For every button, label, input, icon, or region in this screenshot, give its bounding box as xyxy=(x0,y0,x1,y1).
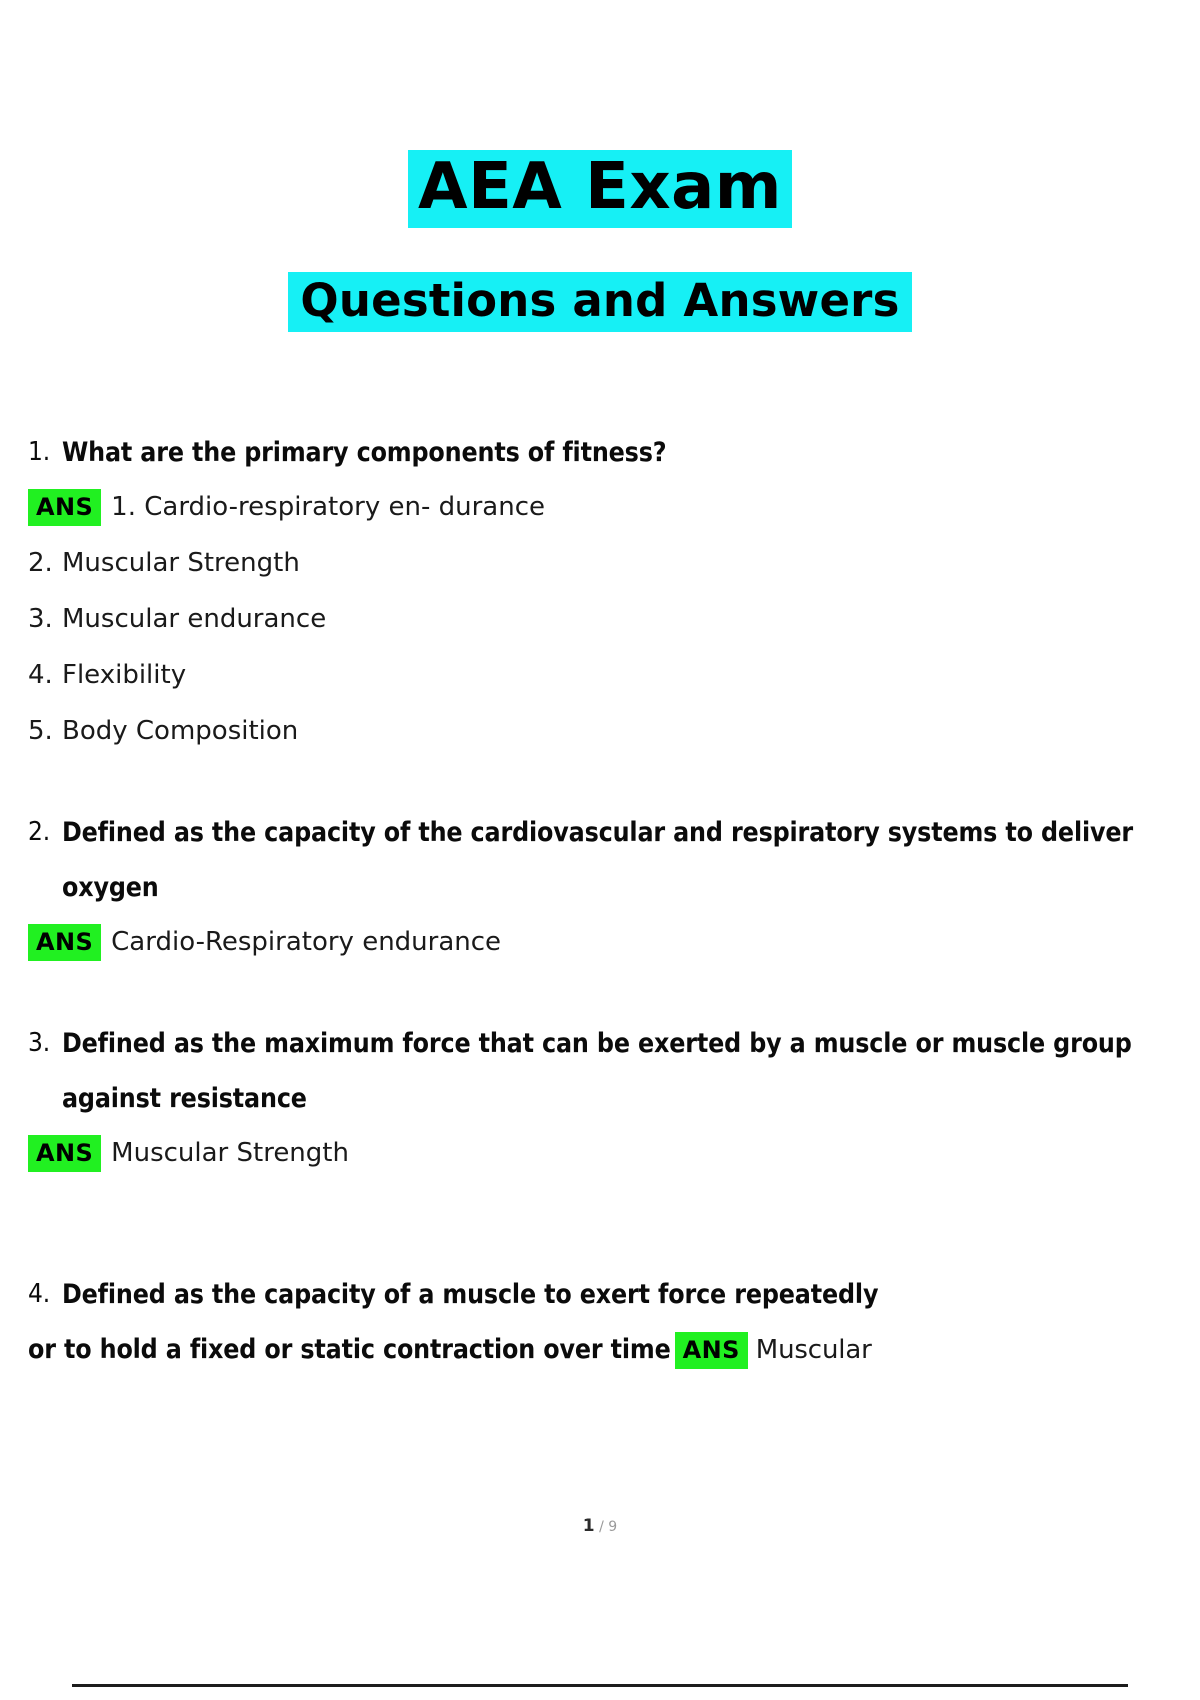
footer-separator: / xyxy=(595,1519,609,1535)
answer-text: Muscular xyxy=(756,1335,872,1365)
list-item: 4. Flexibility xyxy=(28,647,1148,703)
question-list: 1. What are the primary components of fi… xyxy=(28,425,1148,1378)
answer-row: ANS Cardio-Respiratory endurance xyxy=(28,915,1148,970)
question-block-4: 4. Defined as the capacity of a muscle t… xyxy=(28,1267,1148,1378)
question-text: Defined as the capacity of the cardiovas… xyxy=(62,805,1148,915)
list-item-number: 2. xyxy=(28,535,62,591)
question-block-1: 1. What are the primary components of fi… xyxy=(28,425,1148,759)
list-item-label: Body Composition xyxy=(62,703,1148,759)
question-number: 4. xyxy=(28,1267,62,1322)
question-row: 4. Defined as the capacity of a muscle t… xyxy=(28,1267,1148,1322)
question-number: 3. xyxy=(28,1016,62,1071)
question-block-2: 2. Defined as the capacity of the cardio… xyxy=(28,805,1148,970)
block-spacer xyxy=(28,759,1148,805)
ans-badge: ANS xyxy=(675,1332,748,1369)
question-text-continued: or to hold a fixed or static contraction… xyxy=(28,1334,671,1365)
answer-row: ANS Muscular Strength xyxy=(28,1126,1148,1181)
list-item-label: Muscular Strength xyxy=(62,535,1148,591)
title-block: AEA Exam xyxy=(0,0,1200,228)
list-item-label: Muscular endurance xyxy=(62,591,1148,647)
question-text: Defined as the capacity of a muscle to e… xyxy=(62,1267,1148,1322)
answer-text: Muscular Strength xyxy=(111,1126,349,1181)
page-footer: 1 / 9 xyxy=(0,1516,1200,1536)
ans-badge: ANS xyxy=(28,924,101,961)
list-item-number: 4. xyxy=(28,647,62,703)
list-item: 2. Muscular Strength xyxy=(28,535,1148,591)
block-spacer xyxy=(28,1181,1148,1267)
block-spacer xyxy=(28,970,1148,1016)
answer-text: Cardio-Respiratory endurance xyxy=(111,915,501,970)
page-break-rule xyxy=(72,1684,1128,1687)
question-row: 2. Defined as the capacity of the cardio… xyxy=(28,805,1148,915)
document-page: AEA Exam Questions and Answers 1. What a… xyxy=(0,0,1200,1700)
question-text: Defined as the maximum force that can be… xyxy=(62,1016,1148,1126)
list-item-number: 5. xyxy=(28,703,62,759)
ans-badge: ANS xyxy=(28,489,101,526)
question-row: 3. Defined as the maximum force that can… xyxy=(28,1016,1148,1126)
answer-text: 1. Cardio-respiratory en- durance xyxy=(111,480,545,535)
question-number: 2. xyxy=(28,805,62,860)
ans-badge: ANS xyxy=(28,1135,101,1172)
subtitle-block: Questions and Answers xyxy=(0,272,1200,333)
question-number: 1. xyxy=(28,425,62,480)
page-subtitle: Questions and Answers xyxy=(288,272,911,333)
list-item: 5. Body Composition xyxy=(28,703,1148,759)
question-text: What are the primary components of fitne… xyxy=(62,425,1148,480)
page-title: AEA Exam xyxy=(408,150,792,228)
footer-current-page: 1 xyxy=(583,1516,595,1536)
list-item-label: Flexibility xyxy=(62,647,1148,703)
list-item-number: 3. xyxy=(28,591,62,647)
footer-total-pages: 9 xyxy=(608,1519,617,1535)
question-row-continued: or to hold a fixed or static contraction… xyxy=(28,1322,1148,1378)
question-row: 1. What are the primary components of fi… xyxy=(28,425,1148,480)
question-block-3: 3. Defined as the maximum force that can… xyxy=(28,1016,1148,1181)
list-item: 3. Muscular endurance xyxy=(28,591,1148,647)
answer-row: ANS 1. Cardio-respiratory en- durance xyxy=(28,480,1148,535)
